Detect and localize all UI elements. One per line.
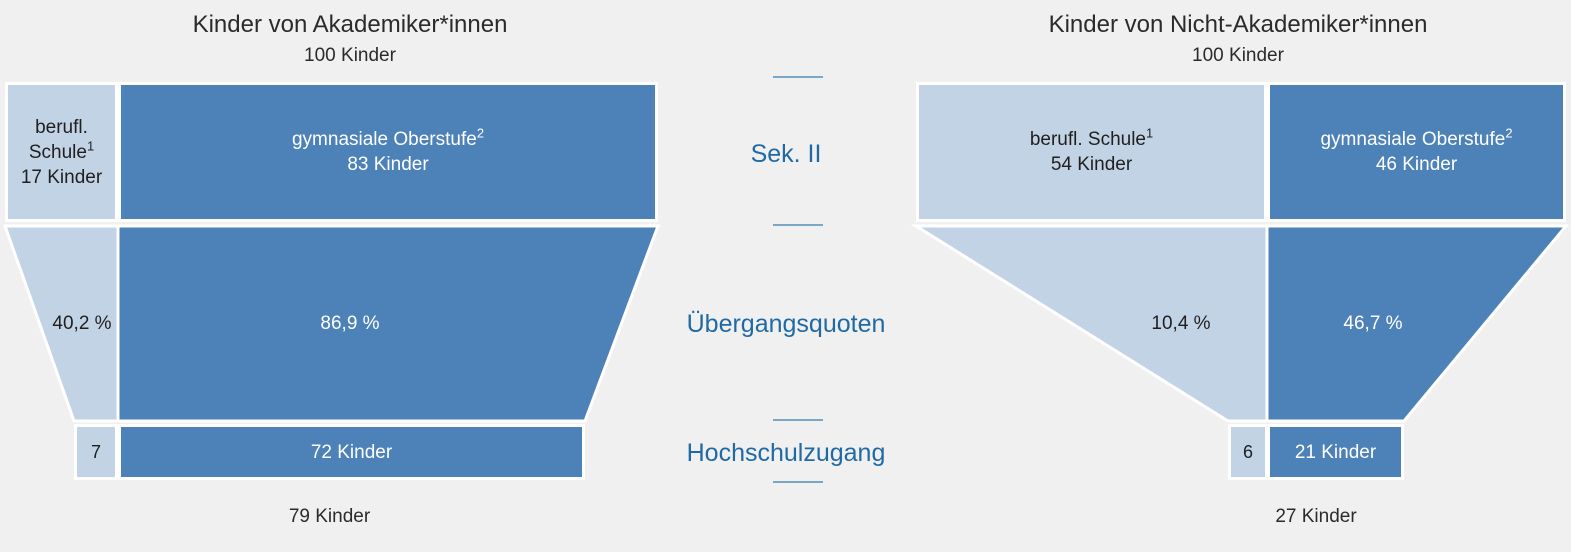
bar-label-line1: gymnasiale Oberstufe2: [1320, 127, 1512, 152]
bar-hochschulzugang-gymnasiale-oberstufe-akademiker[interactable]: 72 Kinder: [118, 424, 585, 480]
bar-value: 21 Kinder: [1295, 440, 1376, 465]
bar-value: 7: [91, 441, 101, 463]
divider-upper-mid: [773, 224, 823, 226]
footnote-marker-1: 1: [1146, 126, 1153, 141]
bar-value: 72 Kinder: [311, 440, 392, 465]
divider-bottom: [773, 481, 823, 483]
rate-berufliche-schule-nicht-akademiker: 10,4 %: [1136, 312, 1226, 336]
group-title-nicht-akademiker: Kinder von Nicht-Akademiker*innen: [910, 10, 1566, 40]
group-subtitle-nicht-akademiker: 100 Kinder: [910, 44, 1566, 68]
rate-berufliche-schule-akademiker: 40,2 %: [42, 312, 122, 336]
bar-label-line1: berufl. Schule1: [1030, 127, 1153, 152]
stage-label-hochschulzugang: Hochschulzugang: [660, 437, 912, 469]
group-footer-total-nicht-akademiker: 27 Kinder: [1228, 505, 1404, 529]
divider-top: [773, 76, 823, 78]
bar-value: 46 Kinder: [1376, 152, 1457, 177]
rate-gymnasiale-oberstufe-akademiker: 86,9 %: [300, 312, 400, 336]
stage-label-uebergangsquoten: Übergangsquoten: [660, 308, 912, 340]
bar-hochschulzugang-berufliche-schule-nicht-akademiker[interactable]: 6: [1228, 424, 1268, 480]
bar-value: 54 Kinder: [1051, 152, 1132, 177]
group-footer-total-akademiker: 79 Kinder: [74, 505, 585, 529]
bar-hochschulzugang-gymnasiale-oberstufe-nicht-akademiker[interactable]: 21 Kinder: [1267, 424, 1404, 480]
bar-value: 6: [1243, 441, 1253, 463]
stage-labels-column: Sek. II Übergangsquoten Hochschulzugang: [660, 0, 912, 552]
stage-label-sek2: Sek. II: [660, 138, 912, 170]
bar-sek2-berufliche-schule-nicht-akademiker[interactable]: berufl. Schule1 54 Kinder: [916, 82, 1267, 222]
infographic-canvas: Kinder von Akademiker*innen 100 Kinder b…: [0, 0, 1571, 552]
rate-gymnasiale-oberstufe-nicht-akademiker: 46,7 %: [1325, 312, 1421, 336]
bar-sek2-gymnasiale-oberstufe-nicht-akademiker[interactable]: gymnasiale Oberstufe2 46 Kinder: [1267, 82, 1566, 222]
divider-lower-mid: [773, 419, 823, 421]
footnote-marker-2: 2: [1505, 126, 1512, 141]
bar-hochschulzugang-berufliche-schule-akademiker[interactable]: 7: [74, 424, 118, 480]
